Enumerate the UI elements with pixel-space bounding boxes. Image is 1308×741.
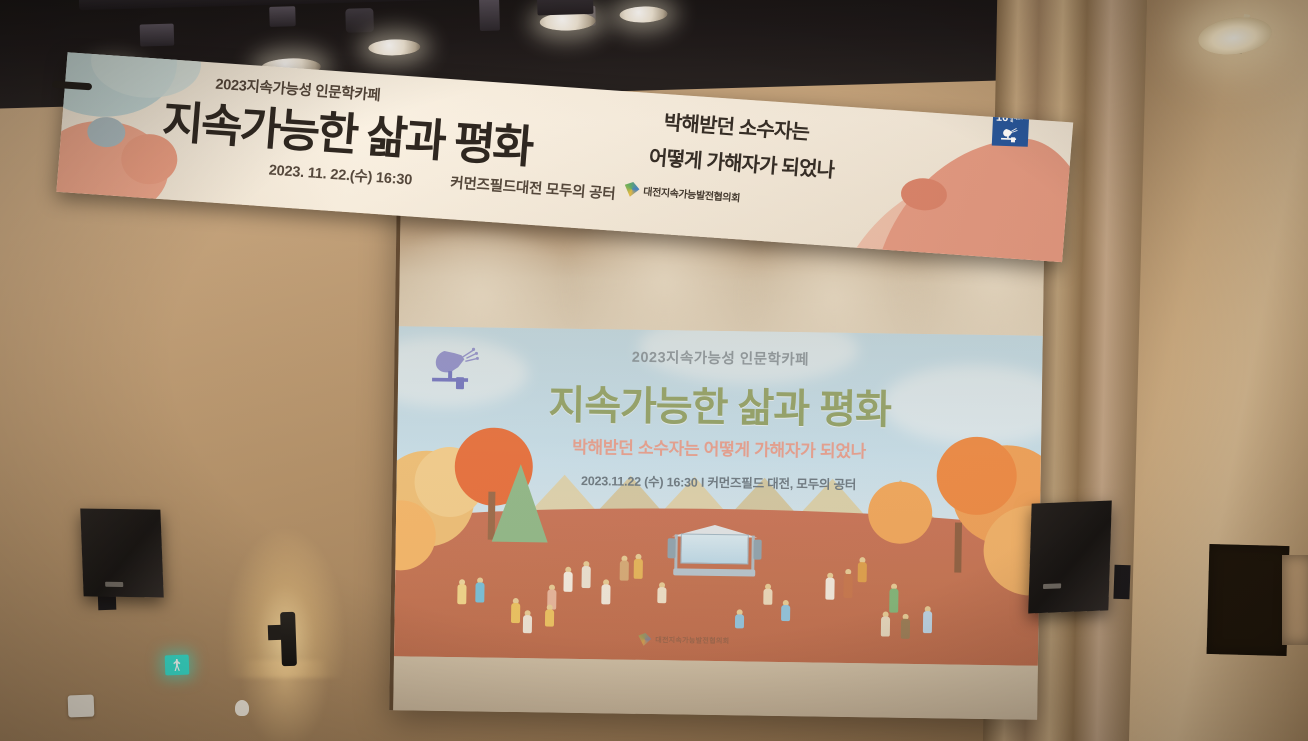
illustration-person [857, 557, 867, 583]
slide-organizer-label: 대전지속가능발전협의회 [655, 635, 729, 646]
illustration-person [563, 567, 573, 593]
illustration-person [657, 582, 667, 604]
photo-scene: 2023지속가능성 인문학카페 지속가능한 삶과 평화 박해받던 소수자는 어떻… [0, 0, 1308, 741]
left-wall-speaker [80, 508, 163, 597]
illustration-person [544, 604, 554, 626]
wall-outlet [68, 695, 95, 718]
wall-fixture [235, 700, 249, 716]
illustration-person [619, 556, 629, 582]
illustration-person [825, 573, 835, 601]
banner-organizer-label: 대전지속가능발전협의회 [643, 183, 741, 205]
illustration-person [880, 611, 890, 637]
ceiling-spotlight [368, 39, 420, 56]
banner-venue: 커먼즈필드대전 모두의 공터 [450, 171, 617, 203]
wall-recess [1207, 544, 1290, 656]
illustration-person [734, 609, 744, 629]
banner-subtitle-line-2: 어떻게 가해자가 되었나 [648, 141, 835, 183]
ceiling-spotlight [619, 6, 667, 23]
projection-screen: 2023지속가능성 인문학카페 지속가능한 삶과 평화 박해받던 소수자는 어떻… [389, 188, 1045, 720]
banner-title: 지속가능한 삶과 평화 [160, 85, 534, 176]
banner-subtitle-line-1: 박해받던 소수자는 [663, 106, 811, 145]
illustration-person [457, 579, 467, 605]
illustration-person [475, 577, 485, 603]
illustration-person [510, 598, 520, 624]
illustration-person [522, 610, 532, 634]
right-wall-speaker [1028, 500, 1112, 613]
organizer-mark-icon [638, 633, 651, 646]
illustration-person [922, 606, 932, 634]
illustration-person [843, 569, 853, 599]
wall-recess [1282, 555, 1308, 645]
illustration-tree-trunk [954, 523, 962, 573]
illustration-outdoor-stage [671, 524, 758, 577]
illustration-person [763, 584, 773, 606]
illustration-person [601, 579, 611, 605]
banner-decor-wave [857, 133, 1073, 262]
illustration-person [900, 614, 910, 640]
wall-sconce-light [280, 612, 297, 666]
organizer-mark-icon [624, 181, 640, 197]
slide-title: 지속가능한 삶과 평화 [397, 370, 1042, 438]
speaker-mount-bracket [1113, 565, 1130, 600]
banner-organizer-logo: 대전지속가능발전협의회 [624, 181, 741, 204]
peace-dove-gavel-icon [428, 341, 491, 394]
illustration-person [581, 561, 591, 589]
emergency-exit-sign [165, 655, 190, 676]
slide-content: 2023지속가능성 인문학카페 지속가능한 삶과 평화 박해받던 소수자는 어떻… [394, 326, 1043, 666]
illustration-person [633, 554, 643, 580]
illustration-person [781, 600, 791, 622]
running-person-icon [172, 659, 181, 671]
illustration-person [889, 584, 899, 614]
dove-and-gavel-icon [999, 127, 1022, 144]
sconce-downward-glow [240, 660, 330, 741]
slide-organizer-logo: 대전지속가능발전협의회 [638, 633, 729, 647]
